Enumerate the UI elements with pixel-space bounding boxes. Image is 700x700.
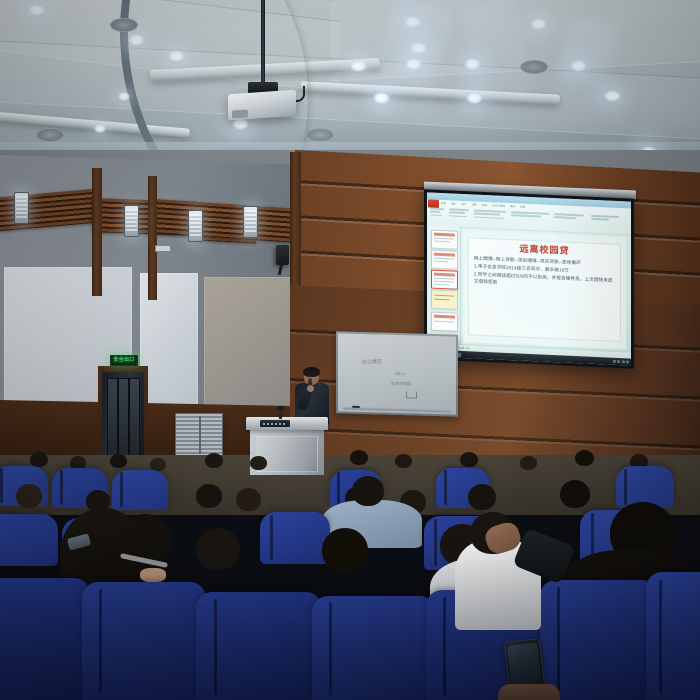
wall-sconce <box>188 210 203 242</box>
presenter <box>295 368 329 424</box>
toolbar-group[interactable] <box>511 211 551 218</box>
audience-head <box>110 454 127 468</box>
toolbar-group[interactable] <box>591 215 621 221</box>
audience-head <box>322 528 368 572</box>
tab-transitions[interactable]: 切换 <box>472 202 477 206</box>
whiteboard-frame: 办公楼区 4栋 A 信息学院楼 <box>336 331 458 416</box>
hand-holding-phone <box>498 684 560 700</box>
audience-head <box>350 450 368 465</box>
audience-head <box>30 452 48 467</box>
toolbar-group[interactable] <box>430 208 446 217</box>
wall-speaker-icon <box>276 245 289 265</box>
presenter-hair <box>303 367 320 377</box>
whiteboard-ink: 4栋 A <box>395 372 405 377</box>
slide-thumbnail[interactable] <box>431 290 458 310</box>
downlight <box>530 18 547 30</box>
audience-head <box>395 454 412 468</box>
whiteboard-ink: 信息学院楼 <box>391 382 411 387</box>
downlight <box>604 90 621 102</box>
whiteboard-drawing <box>406 391 417 398</box>
audience-head <box>575 450 594 466</box>
toolbar-group[interactable] <box>449 208 471 217</box>
tray-icon[interactable] <box>622 360 625 363</box>
slide-thumbnail-active[interactable] <box>431 270 458 290</box>
ceiling-vent <box>36 128 64 142</box>
audience-head <box>236 488 261 511</box>
slide-body: 网上赌博--网上贷款--现实赌博--现实贷款--恶性循环 1.电子信息学院201… <box>474 255 615 291</box>
audience-head <box>16 484 42 508</box>
wall-sconce <box>124 205 139 237</box>
audience-head <box>520 456 537 470</box>
auditorium-seat <box>196 592 322 700</box>
audience-head <box>468 484 496 510</box>
tab-insert[interactable]: 插入 <box>451 201 456 205</box>
tray-icon[interactable] <box>613 360 616 363</box>
presenter-hand <box>307 385 314 392</box>
downlight <box>570 60 587 72</box>
lectern-control-panel[interactable] <box>260 420 290 427</box>
toolbar-group[interactable] <box>554 213 588 220</box>
downlight <box>405 58 422 70</box>
slide-thumbnail[interactable] <box>431 230 458 250</box>
downlight <box>466 92 483 104</box>
auditorium-seat <box>540 580 658 700</box>
auditorium-seat <box>82 582 206 700</box>
downlight <box>28 4 45 16</box>
wall-wood-column <box>92 168 102 296</box>
auditorium-seat <box>0 578 90 700</box>
tab-review[interactable]: 审阅 <box>510 204 515 208</box>
downlight <box>404 16 421 28</box>
whiteboard-marker[interactable] <box>352 406 360 408</box>
lectern-microphone-icon <box>279 409 282 419</box>
downlight <box>118 92 130 101</box>
audience-face <box>140 568 166 582</box>
exit-sign: 安全出口 <box>110 355 138 366</box>
wall-wood-column <box>148 176 157 300</box>
downlight <box>350 60 367 72</box>
audience-head <box>196 528 240 570</box>
audience-head <box>196 484 222 508</box>
whiteboard-ink: 办公楼区 <box>361 360 381 366</box>
wall-wood-column <box>290 152 301 302</box>
slide-editing-stage[interactable]: 远离校园贷 网上赌博--网上贷款--现实赌博--现实贷款--恶性循环 1.电子信… <box>463 230 626 349</box>
tab-view[interactable]: 视图 <box>520 205 525 209</box>
wall-sconce <box>243 206 258 238</box>
slide-thumbnail-panel[interactable] <box>427 225 461 345</box>
lecture-hall-photo: 安全出口 开始 插入 设计 切换 动画 幻灯片放映 审阅 视图 <box>0 0 700 700</box>
tab-home[interactable]: 开始 <box>441 201 446 205</box>
projector-lens <box>232 109 248 118</box>
auditorium-seat <box>312 596 436 700</box>
tab-design[interactable]: 设计 <box>461 202 466 206</box>
lectern-top <box>246 417 328 430</box>
auditorium-seat <box>646 572 700 700</box>
tray-icon[interactable] <box>617 360 620 363</box>
wall-sconce <box>14 192 29 224</box>
downlight <box>373 92 390 104</box>
wall-outlet <box>155 245 171 252</box>
ceiling-vent <box>110 18 138 32</box>
auditorium-seat <box>112 470 168 510</box>
taskbar-tray[interactable] <box>613 360 632 364</box>
downlight <box>94 124 106 133</box>
ceiling-vent <box>306 128 334 142</box>
whiteboard[interactable]: 办公楼区 4栋 A 信息学院楼 <box>338 333 456 414</box>
audience-area <box>0 440 700 700</box>
projector-mount-rod <box>261 0 265 84</box>
audience-head <box>460 452 478 467</box>
downlight <box>168 50 185 62</box>
exit-sign-label: 安全出口 <box>113 358 134 363</box>
audience-head <box>205 453 223 468</box>
audience-head <box>352 476 384 506</box>
downlight <box>464 58 481 70</box>
audience-head <box>250 456 267 470</box>
current-slide[interactable]: 远离校园贷 网上赌博--网上贷款--现实赌博--现实贷款--恶性循环 1.电子信… <box>468 237 621 343</box>
auditorium-seat <box>0 514 58 566</box>
slide-thumbnail[interactable] <box>431 250 458 270</box>
audience-head <box>560 480 590 508</box>
tab-slideshow[interactable]: 幻灯片放映 <box>492 203 505 208</box>
tab-animations[interactable]: 动画 <box>482 203 487 207</box>
downlight <box>410 42 427 54</box>
ceiling-vent <box>520 60 548 74</box>
auditorium-seat <box>260 512 330 564</box>
toolbar-group[interactable] <box>474 210 508 220</box>
downlight <box>128 34 145 46</box>
tray-icon[interactable] <box>626 360 629 363</box>
slide-thumbnail[interactable] <box>431 312 458 332</box>
